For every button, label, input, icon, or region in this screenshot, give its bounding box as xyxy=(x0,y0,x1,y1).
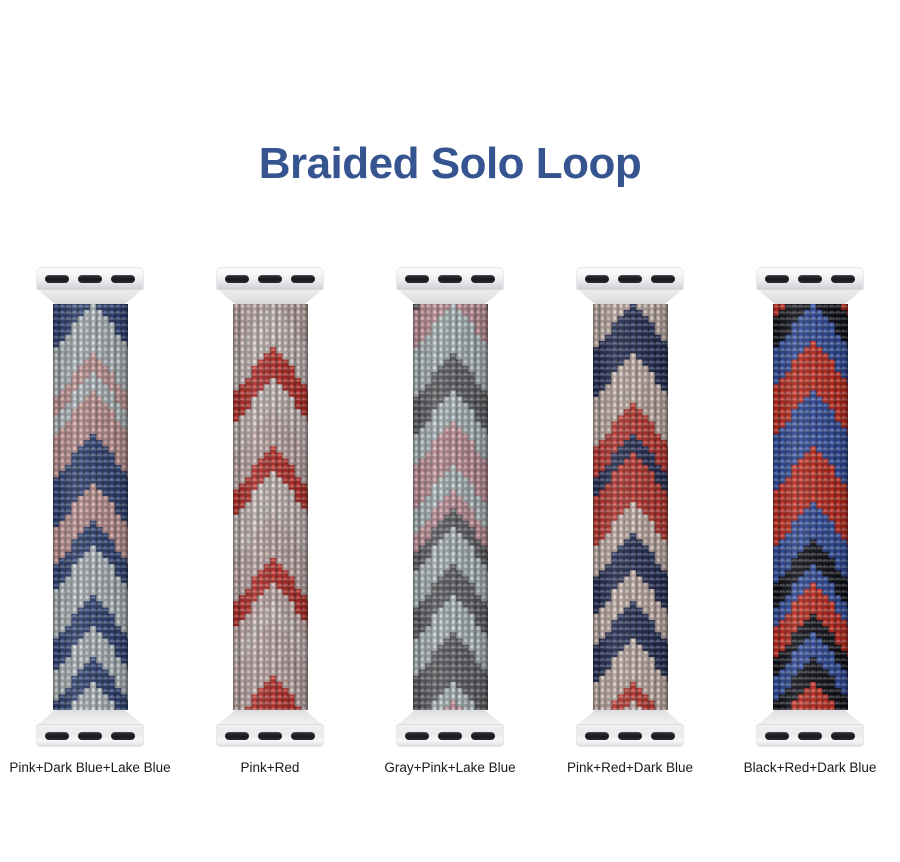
connector-slot-icon xyxy=(111,275,135,283)
connector-slot-icon xyxy=(618,732,642,740)
product-pink-dark-blue-lake-blue[interactable]: Pink+Dark Blue+Lake Blue xyxy=(8,268,172,788)
braid-texture xyxy=(593,304,668,710)
band-shoulder-bottom xyxy=(397,710,503,725)
connector-slot-icon xyxy=(471,275,495,283)
product-color-label: Gray+Pink+Lake Blue xyxy=(384,760,515,776)
product-row: Pink+Dark Blue+Lake BluePink+RedGray+Pin… xyxy=(0,268,900,788)
product-color-label: Pink+Dark Blue+Lake Blue xyxy=(9,760,170,776)
connector-slot-icon xyxy=(765,275,789,283)
product-pink-red[interactable]: Pink+Red xyxy=(188,268,352,788)
connector-slot-icon xyxy=(225,275,249,283)
band-connector-top xyxy=(577,268,683,289)
connector-slot-icon xyxy=(438,275,462,283)
connector-slot-icon xyxy=(111,732,135,740)
braid-weave-pink-dark-blue-lake-blue xyxy=(53,304,128,710)
connector-slot-icon xyxy=(405,732,429,740)
connector-slot-icon xyxy=(258,732,282,740)
connector-slot-icon xyxy=(765,732,789,740)
connector-slot-icon xyxy=(618,275,642,283)
connector-slot-icon xyxy=(78,275,102,283)
product-color-label: Pink+Red xyxy=(241,760,300,776)
product-gray-pink-lake-blue[interactable]: Gray+Pink+Lake Blue xyxy=(368,268,532,788)
page-title: Braided Solo Loop xyxy=(0,142,900,186)
connector-slot-icon xyxy=(438,732,462,740)
watch-band-gray-pink-lake-blue[interactable] xyxy=(395,268,505,746)
band-shoulder-bottom xyxy=(217,710,323,725)
connector-slot-icon xyxy=(291,275,315,283)
band-connector-bottom xyxy=(757,725,863,746)
band-connector-bottom xyxy=(217,725,323,746)
band-shoulder-top xyxy=(397,289,503,304)
watch-band-pink-dark-blue-lake-blue[interactable] xyxy=(35,268,145,746)
braid-weave-black-red-dark-blue xyxy=(773,304,848,710)
connector-slot-icon xyxy=(45,732,69,740)
band-shoulder-top xyxy=(37,289,143,304)
product-image-canvas: Braided Solo Loop Pink+Dark Blue+Lake Bl… xyxy=(0,0,900,862)
connector-slot-icon xyxy=(225,732,249,740)
product-color-label: Pink+Red+Dark Blue xyxy=(567,760,693,776)
connector-slot-icon xyxy=(78,732,102,740)
band-connector-top xyxy=(217,268,323,289)
connector-slot-icon xyxy=(45,275,69,283)
braid-texture xyxy=(53,304,128,710)
connector-slot-icon xyxy=(471,732,495,740)
band-shoulder-top xyxy=(577,289,683,304)
connector-slot-icon xyxy=(798,732,822,740)
braid-weave-pink-red xyxy=(233,304,308,710)
braid-texture xyxy=(233,304,308,710)
connector-slot-icon xyxy=(258,275,282,283)
connector-slot-icon xyxy=(585,275,609,283)
band-shoulder-bottom xyxy=(37,710,143,725)
watch-band-black-red-dark-blue[interactable] xyxy=(755,268,865,746)
band-shoulder-bottom xyxy=(757,710,863,725)
connector-slot-icon xyxy=(291,732,315,740)
braid-weave-pink-red-dark-blue xyxy=(593,304,668,710)
band-connector-top xyxy=(757,268,863,289)
watch-band-pink-red-dark-blue[interactable] xyxy=(575,268,685,746)
braid-texture xyxy=(413,304,488,710)
connector-slot-icon xyxy=(831,275,855,283)
product-black-red-dark-blue[interactable]: Black+Red+Dark Blue xyxy=(728,268,892,788)
band-connector-top xyxy=(397,268,503,289)
band-connector-top xyxy=(37,268,143,289)
connector-slot-icon xyxy=(585,732,609,740)
connector-slot-icon xyxy=(831,732,855,740)
braid-weave-gray-pink-lake-blue xyxy=(413,304,488,710)
band-shoulder-top xyxy=(757,289,863,304)
watch-band-pink-red[interactable] xyxy=(215,268,325,746)
connector-slot-icon xyxy=(651,275,675,283)
band-connector-bottom xyxy=(577,725,683,746)
band-shoulder-top xyxy=(217,289,323,304)
band-connector-bottom xyxy=(37,725,143,746)
connector-slot-icon xyxy=(651,732,675,740)
band-connector-bottom xyxy=(397,725,503,746)
braid-texture xyxy=(773,304,848,710)
connector-slot-icon xyxy=(405,275,429,283)
band-shoulder-bottom xyxy=(577,710,683,725)
product-color-label: Black+Red+Dark Blue xyxy=(744,760,877,776)
page-title-container: Braided Solo Loop xyxy=(0,142,900,186)
product-pink-red-dark-blue[interactable]: Pink+Red+Dark Blue xyxy=(548,268,712,788)
connector-slot-icon xyxy=(798,275,822,283)
